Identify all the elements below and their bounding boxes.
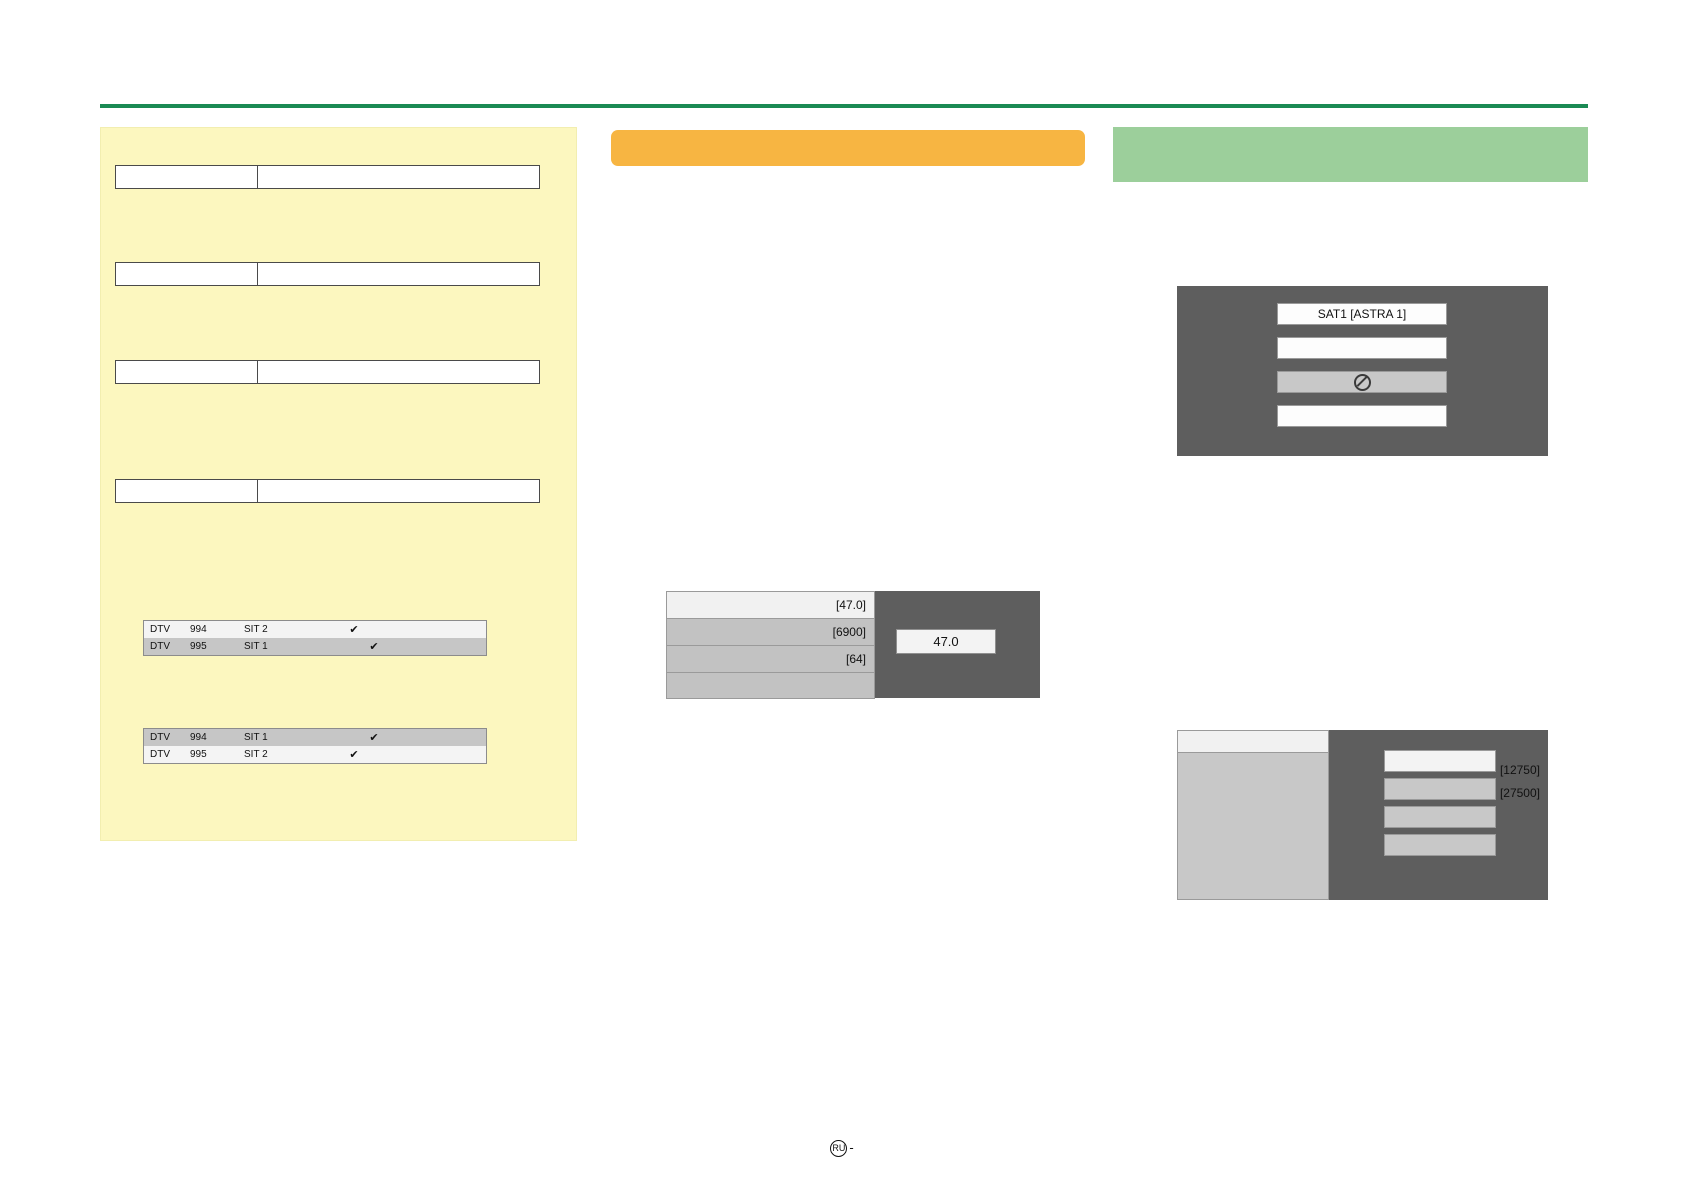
channel-table-after: DTV 994 SIT 1 ✔ DTV 995 SIT 2 ✔	[143, 728, 487, 764]
table-row: DTV 994 SIT 2 ✔	[144, 621, 486, 638]
frequency-osd-list-header	[1178, 731, 1328, 753]
page-footer: RU-	[0, 1140, 1684, 1157]
kv-bar-3	[115, 360, 540, 384]
section-banner-green	[1113, 127, 1588, 182]
kv-bar-1-value	[258, 165, 540, 189]
table-row: DTV 994 SIT 1 ✔	[144, 729, 486, 746]
channel-type: DTV	[150, 624, 190, 635]
check-icon-b: ✔	[364, 731, 384, 744]
kv-bar-3-value	[258, 360, 540, 384]
check-icon-a: ✔	[344, 623, 364, 636]
channel-name: SIT 2	[244, 749, 344, 760]
check-icon-a: ✔	[344, 748, 364, 761]
kv-bar-3-label	[115, 360, 258, 384]
channel-number: 994	[190, 732, 244, 743]
satellite-osd-item-3[interactable]	[1277, 371, 1447, 393]
kv-bar-4-value	[258, 479, 540, 503]
frequency-menu-item-4[interactable]	[1384, 834, 1496, 856]
kv-bar-4	[115, 479, 540, 503]
tuning-row-symbolrate[interactable]: [6900]	[666, 618, 875, 645]
kv-bar-1-label	[115, 165, 258, 189]
no-entry-icon	[1354, 374, 1371, 391]
section-banner-orange	[611, 130, 1085, 166]
table-row: DTV 995 SIT 2 ✔	[144, 746, 486, 763]
channel-name: SIT 2	[244, 624, 344, 635]
satellite-osd-item-1[interactable]: SAT1 [ASTRA 1]	[1277, 303, 1447, 325]
ru-mark-icon: RU	[830, 1140, 847, 1157]
channel-type: DTV	[150, 641, 190, 652]
kv-bar-2-label	[115, 262, 258, 286]
tuning-osd-list: [47.0] [6900] [64]	[666, 591, 875, 698]
tuning-value-popup[interactable]: 47.0	[896, 629, 996, 654]
frequency-menu-item-1[interactable]	[1384, 750, 1496, 772]
kv-bar-2	[115, 262, 540, 286]
channel-type: DTV	[150, 749, 190, 760]
tuning-row-qam[interactable]: [64]	[666, 645, 875, 672]
frequency-value-1: [12750]	[1500, 763, 1540, 777]
channel-name: SIT 1	[244, 641, 344, 652]
check-icon-b: ✔	[364, 640, 384, 653]
kv-bar-2-value	[258, 262, 540, 286]
tuning-osd: [47.0] [6900] [64] 47.0	[666, 591, 1040, 698]
frequency-menu-item-3[interactable]	[1384, 806, 1496, 828]
tuning-row-empty[interactable]	[666, 672, 875, 699]
channel-number: 995	[190, 749, 244, 760]
note-panel: DTV 994 SIT 2 ✔ DTV 995 SIT 1 ✔ DTV 994 …	[100, 127, 577, 841]
channel-number: 994	[190, 624, 244, 635]
frequency-osd-list	[1177, 730, 1329, 900]
satellite-osd-item-2[interactable]	[1277, 337, 1447, 359]
kv-bar-4-label	[115, 479, 258, 503]
channel-name: SIT 1	[244, 732, 344, 743]
frequency-menu-item-2[interactable]	[1384, 778, 1496, 800]
channel-type: DTV	[150, 732, 190, 743]
satellite-osd-item-4[interactable]	[1277, 405, 1447, 427]
frequency-value-2: [27500]	[1500, 786, 1540, 800]
page-number: -	[849, 1140, 853, 1155]
channel-number: 995	[190, 641, 244, 652]
kv-bar-1	[115, 165, 540, 189]
table-row: DTV 995 SIT 1 ✔	[144, 638, 486, 655]
channel-table-before: DTV 994 SIT 2 ✔ DTV 995 SIT 1 ✔	[143, 620, 487, 656]
header-rule	[100, 104, 1588, 108]
tuning-row-frequency[interactable]: [47.0]	[666, 591, 875, 618]
frequency-osd: [12750] [27500]	[1177, 730, 1548, 900]
satellite-osd: SAT1 [ASTRA 1]	[1177, 286, 1548, 456]
